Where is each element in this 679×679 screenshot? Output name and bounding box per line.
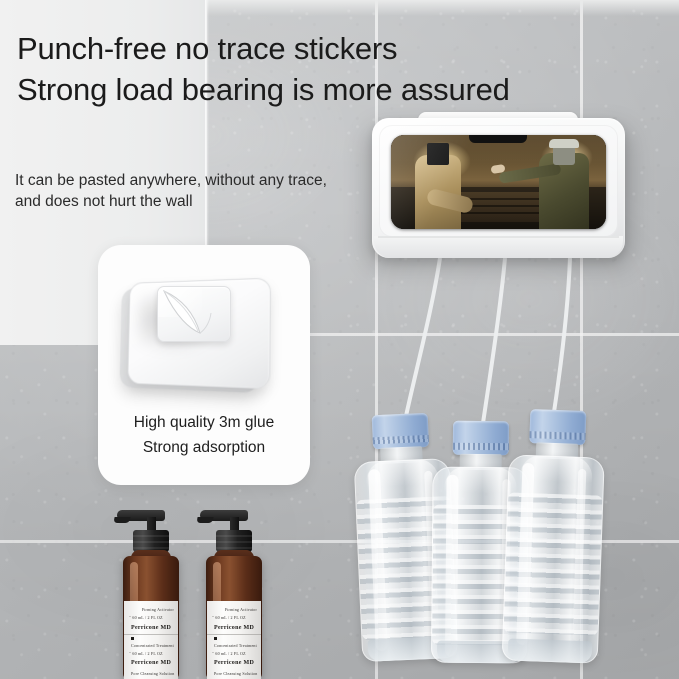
caption-line-2: Strong adsorption <box>98 435 310 460</box>
product-marketing-image: Punch-free no trace stickers Strong load… <box>0 0 679 679</box>
subcopy-line-1: It can be pasted anywhere, without any t… <box>15 170 415 191</box>
adhesive-feature-card: High quality 3m glue Strong adsorption <box>98 245 310 485</box>
soap-dispenser-bottle: Firming Activator ⃛ 60 mL / 2 FL OZ Perr… <box>196 504 268 679</box>
headline-line-2: Strong load bearing is more assured <box>17 69 617 110</box>
subcopy-text: It can be pasted anywhere, without any t… <box>15 170 415 212</box>
bottle-highlight-left <box>445 475 459 657</box>
subcopy-line-2: and does not hurt the wall <box>15 191 415 212</box>
pump-nozzle <box>200 510 248 521</box>
phone-screen <box>391 135 606 229</box>
pump-collar <box>216 530 252 552</box>
label-line-4: Concentrated Treatment <box>214 643 257 648</box>
pump-nozzle <box>117 510 165 521</box>
bottle-cap-ridges <box>453 443 509 450</box>
label-line-5: ⃛ 60 mL / 2 FL OZ <box>214 651 246 656</box>
label-line-7: Pore Cleansing Solution <box>131 671 175 676</box>
label-line-3: Perricone MD <box>214 625 254 631</box>
caption-line-1: High quality 3m glue <box>98 410 310 435</box>
screen-glare <box>391 135 606 229</box>
holder-base-shelf <box>374 236 623 258</box>
pump-collar <box>133 530 169 552</box>
label-line-5: ⃛ 60 mL / 2 FL OZ <box>131 651 163 656</box>
label-line-1: Firming Activator <box>225 607 257 612</box>
label-line-6: Perricone MD <box>214 660 254 666</box>
label-line-2: ⃛ 60 mL / 2 FL OZ <box>214 615 246 620</box>
dispenser-label: Firming Activator ⃛ 60 mL / 2 FL OZ Perr… <box>207 601 261 679</box>
adhesive-mount-illustration <box>98 253 310 405</box>
label-line-6: Perricone MD <box>131 660 171 666</box>
label-line-4: Concentrated Treatment <box>131 643 174 648</box>
water-bottle <box>502 408 607 663</box>
adhesive-card-caption: High quality 3m glue Strong adsorption <box>98 410 310 460</box>
holder-base-edge-line <box>378 236 619 238</box>
headline-line-1: Punch-free no trace stickers <box>17 28 617 69</box>
page-title: Punch-free no trace stickers Strong load… <box>17 28 617 110</box>
label-line-7: Pore Cleansing Solution <box>214 671 258 676</box>
bottle-base <box>508 638 593 663</box>
peeling-film-corner-icon <box>160 289 216 339</box>
soap-dispenser-bottle: Firming Activator ⃛ 60 mL / 2 FL OZ Perr… <box>113 504 185 679</box>
label-line-1: Firming Activator <box>142 607 174 612</box>
label-line-2: ⃛ 60 mL / 2 FL OZ <box>131 615 163 620</box>
waterproof-phone-holder <box>372 118 625 258</box>
dispenser-label: Firming Activator ⃛ 60 mL / 2 FL OZ Perr… <box>124 601 178 679</box>
label-line-3: Perricone MD <box>131 625 171 631</box>
